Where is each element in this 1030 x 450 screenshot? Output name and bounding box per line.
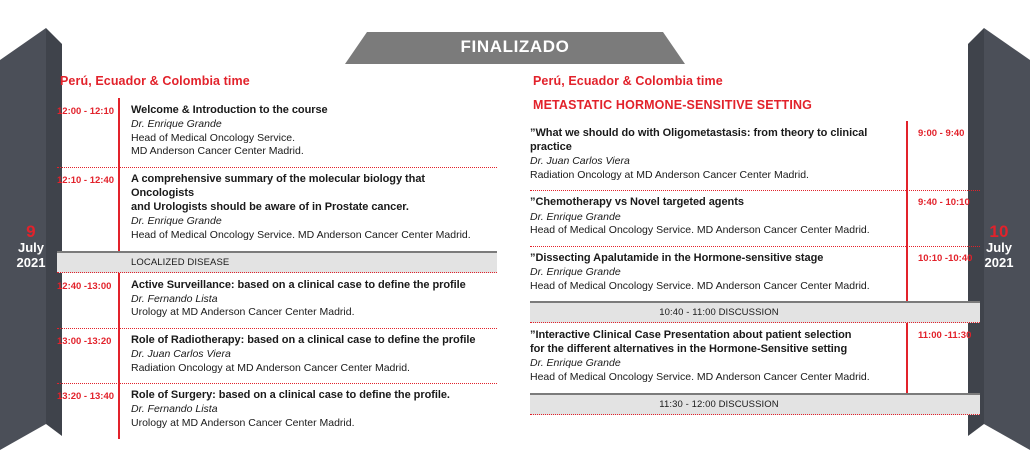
session-title: Role of Surgery: based on a clinical cas… <box>131 388 491 402</box>
session-row[interactable]: ”Dissecting Apalutamide in the Hormone-s… <box>530 246 980 301</box>
session-speaker: Dr. Fernando Lista <box>131 293 491 307</box>
session-title: ”What we should do with Oligometastasis:… <box>530 126 900 154</box>
session-rule <box>906 190 908 245</box>
session-speaker: Dr. Enrique Grande <box>530 266 900 280</box>
section-band-label: LOCALIZED DISEASE <box>131 257 229 268</box>
session-title: ”Dissecting Apalutamide in the Hormone-s… <box>530 251 900 265</box>
session-time: 12:10 - 12:40 <box>57 167 115 186</box>
session-body: Role of Surgery: based on a clinical cas… <box>120 383 491 438</box>
session-row[interactable]: ”What we should do with Oligometastasis:… <box>530 121 980 190</box>
day1-date-month: July <box>0 241 62 256</box>
session-title: ”Interactive Clinical Case Presentation … <box>530 328 900 342</box>
session-time: 13:20 - 13:40 <box>57 383 115 402</box>
session-row[interactable]: 13:20 - 13:40 Role of Surgery: based on … <box>57 383 497 438</box>
session-body: ”Dissecting Apalutamide in the Hormone-s… <box>530 246 906 301</box>
discussion-band-label: 10:40 - 11:00 DISCUSSION <box>659 307 778 318</box>
status-badge: FINALIZADO <box>345 32 685 64</box>
day1-date-year: 2021 <box>0 256 62 271</box>
day1-column: Perú, Ecuador & Colombia time 12:00 - 12… <box>57 74 497 439</box>
session-title: Welcome & Introduction to the course <box>131 103 491 117</box>
session-row[interactable]: 13:00 -13:20 Role of Radiotherapy: based… <box>57 328 497 383</box>
session-affiliation: Head of Medical Oncology Service. MD And… <box>530 280 900 294</box>
session-affiliation: Radiation Oncology at MD Anderson Cancer… <box>131 362 491 376</box>
session-time: 11:00 -11:30 <box>918 323 971 341</box>
session-affiliation: Urology at MD Anderson Cancer Center Mad… <box>131 417 491 431</box>
session-body: ”Interactive Clinical Case Presentation … <box>530 323 906 392</box>
session-title: and Urologists should be aware of in Pro… <box>131 200 491 214</box>
session-affiliation: Urology at MD Anderson Cancer Center Mad… <box>131 306 491 320</box>
session-affiliation: Head of Medical Oncology Service. MD And… <box>530 371 900 385</box>
session-time: 12:00 - 12:10 <box>57 98 115 117</box>
session-title: for the different alternatives in the Ho… <box>530 342 900 356</box>
session-speaker: Dr. Fernando Lista <box>131 403 491 417</box>
day1-date-slab: 9 July 2021 <box>0 0 62 450</box>
session-row[interactable]: ”Chemotherapy vs Novel targeted agents D… <box>530 190 980 245</box>
day2-column: Perú, Ecuador & Colombia time METASTATIC… <box>530 74 980 415</box>
session-affiliation: Head of Medical Oncology Service. MD And… <box>530 224 900 238</box>
session-affiliation: Radiation Oncology at MD Anderson Cancer… <box>530 169 900 183</box>
day1-date-day: 9 <box>0 222 62 241</box>
session-body: Role of Radiotherapy: based on a clinica… <box>120 328 491 383</box>
session-rule <box>906 323 908 392</box>
session-speaker: Dr. Enrique Grande <box>131 118 491 132</box>
session-speaker: Dr. Juan Carlos Viera <box>530 155 900 169</box>
session-time: 13:00 -13:20 <box>57 328 115 347</box>
session-row[interactable]: 12:10 - 12:40 A comprehensive summary of… <box>57 167 497 251</box>
session-row[interactable]: ”Interactive Clinical Case Presentation … <box>530 323 980 392</box>
agenda-canvas: 9 July 2021 10 July 2021 FINALIZADO Perú… <box>0 0 1030 450</box>
session-rule <box>906 121 908 190</box>
day1-timezone-header: Perú, Ecuador & Colombia time <box>60 74 497 88</box>
session-body: Active Surveillance: based on a clinical… <box>120 273 491 328</box>
day2-section-header: METASTATIC HORMONE-SENSITIVE SETTING <box>533 98 980 112</box>
session-speaker: Dr. Enrique Grande <box>530 211 900 225</box>
session-title: ”Chemotherapy vs Novel targeted agents <box>530 195 900 209</box>
session-body: Welcome & Introduction to the course Dr.… <box>120 98 491 167</box>
session-speaker: Dr. Enrique Grande <box>530 357 900 371</box>
session-affiliation: MD Anderson Cancer Center Madrid. <box>131 145 491 159</box>
discussion-band: 10:40 - 11:00 DISCUSSION <box>530 301 980 323</box>
session-time: 10:10 -10:40 <box>918 246 972 264</box>
session-title: Role of Radiotherapy: based on a clinica… <box>131 333 491 347</box>
session-affiliation: Head of Medical Oncology Service. <box>131 132 491 146</box>
session-rule <box>906 246 908 301</box>
session-time: 12:40 -13:00 <box>57 273 115 292</box>
session-speaker: Dr. Juan Carlos Viera <box>131 348 491 362</box>
session-body: ”Chemotherapy vs Novel targeted agents D… <box>530 190 906 245</box>
session-time: 9:00 - 9:40 <box>918 121 964 139</box>
session-body: ”What we should do with Oligometastasis:… <box>530 121 906 190</box>
session-body: A comprehensive summary of the molecular… <box>120 167 491 251</box>
discussion-band-label: 11:30 - 12:00 DISCUSSION <box>659 399 778 410</box>
session-title: Active Surveillance: based on a clinical… <box>131 278 491 292</box>
session-time: 9:40 - 10:10 <box>918 190 970 208</box>
session-affiliation: Head of Medical Oncology Service. MD And… <box>131 229 491 243</box>
day1-date: 9 July 2021 <box>0 222 62 270</box>
session-row[interactable]: 12:40 -13:00 Active Surveillance: based … <box>57 273 497 328</box>
session-speaker: Dr. Enrique Grande <box>131 215 491 229</box>
session-row[interactable]: 12:00 - 12:10 Welcome & Introduction to … <box>57 98 497 167</box>
status-banner: FINALIZADO <box>345 32 685 64</box>
day2-timezone-header: Perú, Ecuador & Colombia time <box>533 74 980 88</box>
discussion-band: 11:30 - 12:00 DISCUSSION <box>530 393 980 415</box>
session-title: A comprehensive summary of the molecular… <box>131 172 491 200</box>
section-band-localized-disease: LOCALIZED DISEASE <box>57 251 497 273</box>
